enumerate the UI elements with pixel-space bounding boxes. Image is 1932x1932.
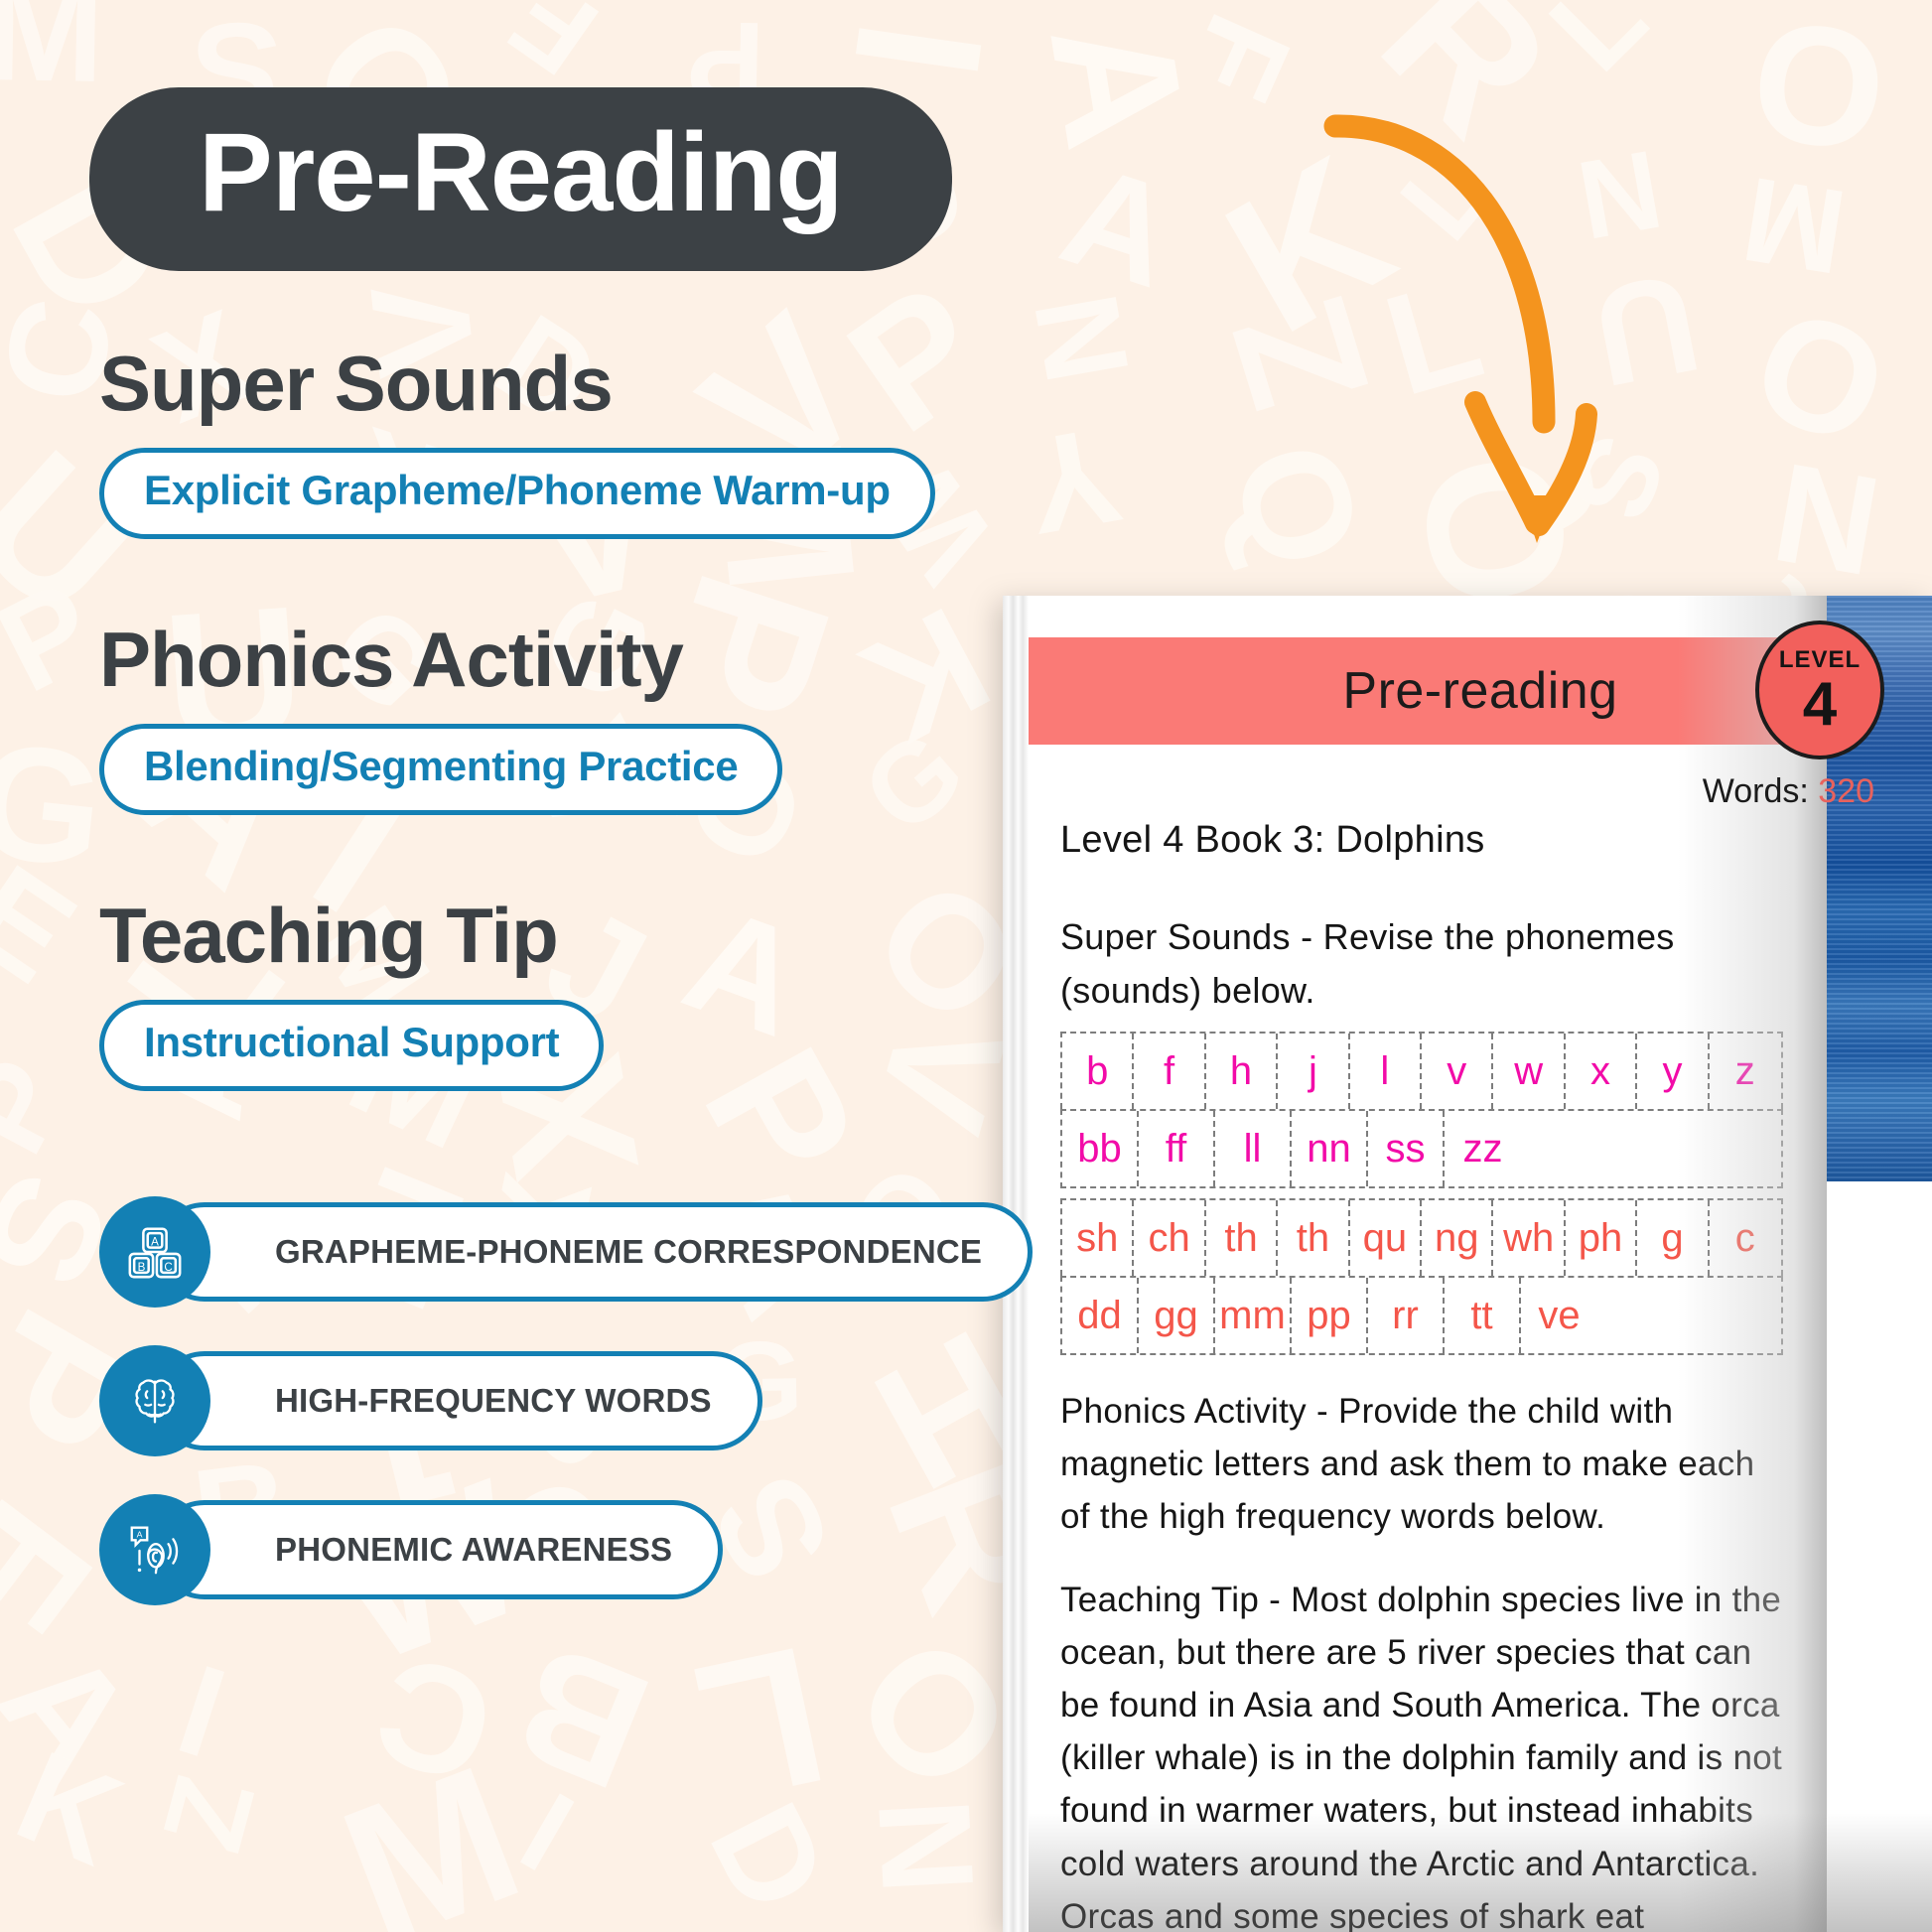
section-subtitle-pill: Explicit Grapheme/Phoneme Warm-up: [99, 448, 935, 539]
phoneme-cell: gg: [1139, 1278, 1215, 1353]
level-badge: LEVEL 4: [1755, 621, 1884, 759]
words-label: Words:: [1703, 772, 1809, 810]
phoneme-cell: h: [1206, 1034, 1278, 1109]
phoneme-cell: bb: [1062, 1111, 1139, 1186]
svg-text:C: C: [164, 1261, 172, 1274]
phoneme-cell: rr: [1368, 1278, 1445, 1353]
svg-text:A: A: [137, 1529, 143, 1539]
phoneme-cell: l: [1350, 1034, 1422, 1109]
feature-pill: HIGH-FREQUENCY WORDS: [155, 1351, 762, 1450]
page-title: Pre-Reading: [199, 109, 843, 237]
phoneme-cell: zz: [1445, 1111, 1521, 1186]
phoneme-cell: ss: [1368, 1111, 1445, 1186]
page-header-title: Pre-reading: [1342, 661, 1617, 721]
phoneme-cell: mm: [1215, 1278, 1292, 1353]
svg-text:B: B: [138, 1261, 146, 1274]
section-subtitle: Instructional Support: [144, 1019, 559, 1065]
phoneme-cell: sh: [1062, 1200, 1134, 1276]
phoneme-cell: tt: [1445, 1278, 1521, 1353]
feature-label: GRAPHEME-PHONEME CORRESPONDENCE: [275, 1233, 982, 1271]
phoneme-grid: bfhjlvwxyzbbffllnnsszzshchththqungwhphgc…: [1060, 1032, 1783, 1355]
section-teaching-tip: Teaching Tip Instructional Support: [99, 897, 1013, 1091]
phoneme-cell: f: [1134, 1034, 1205, 1109]
phoneme-grid-row: bfhjlvwxyz: [1060, 1032, 1783, 1109]
feature-pill: GRAPHEME-PHONEME CORRESPONDENCE: [155, 1202, 1033, 1302]
left-content-column: Pre-Reading Super Sounds Explicit Graphe…: [0, 0, 1013, 1932]
section-heading: Super Sounds: [99, 345, 1013, 422]
phoneme-cell: b: [1062, 1034, 1134, 1109]
ear-speech-icon: A: [99, 1494, 210, 1605]
phoneme-cell: g: [1637, 1200, 1709, 1276]
brain-icon: [99, 1345, 210, 1456]
phoneme-grid-row: ddggmmpprrttve: [1060, 1276, 1783, 1355]
level-number: 4: [1803, 676, 1837, 735]
phoneme-cell: ph: [1566, 1200, 1637, 1276]
book-preview: Pre-reading LEVEL 4 Words: 320 Level 4 B…: [1003, 596, 1932, 1932]
phoneme-cell: j: [1278, 1034, 1349, 1109]
phoneme-grid-row: shchththqungwhphgc: [1060, 1198, 1783, 1276]
phoneme-cell: dd: [1062, 1278, 1139, 1353]
feature-label: HIGH-FREQUENCY WORDS: [275, 1382, 712, 1420]
abc-blocks-icon: A B C: [99, 1196, 210, 1308]
phoneme-cell: y: [1637, 1034, 1709, 1109]
phoneme-cell: th: [1278, 1200, 1349, 1276]
feature-item-high-frequency-words: HIGH-FREQUENCY WORDS: [99, 1345, 1013, 1456]
super-sounds-prompt: Super Sounds - Revise the phonemes (soun…: [1060, 910, 1783, 1018]
phoneme-cell: z: [1710, 1034, 1781, 1109]
feature-list: GRAPHEME-PHONEME CORRESPONDENCE A B C H: [99, 1196, 1013, 1605]
phoneme-cell: ng: [1422, 1200, 1493, 1276]
phoneme-cell: th: [1206, 1200, 1278, 1276]
page-title-pill: Pre-Reading: [89, 87, 952, 271]
phoneme-cell: ll: [1215, 1111, 1292, 1186]
phoneme-cell: v: [1422, 1034, 1493, 1109]
phoneme-cell: nn: [1292, 1111, 1368, 1186]
feature-item-grapheme-phoneme: GRAPHEME-PHONEME CORRESPONDENCE A B C: [99, 1196, 1013, 1308]
words-count: 320: [1818, 772, 1874, 810]
section-subtitle: Explicit Grapheme/Phoneme Warm-up: [144, 467, 891, 513]
section-heading: Phonics Activity: [99, 621, 1013, 698]
feature-pill: PHONEMIC AWARENESS: [155, 1500, 723, 1599]
feature-label: PHONEMIC AWARENESS: [275, 1531, 672, 1569]
curved-down-arrow-icon: [1311, 94, 1618, 566]
section-subtitle: Blending/Segmenting Practice: [144, 743, 738, 789]
book-title: Level 4 Book 3: Dolphins: [1060, 812, 1783, 869]
phoneme-cell: pp: [1292, 1278, 1368, 1353]
phoneme-grid-group: bfhjlvwxyzbbffllnnsszz: [1060, 1032, 1783, 1188]
word-count: Words: 320: [1703, 772, 1874, 811]
section-subtitle-pill: Blending/Segmenting Practice: [99, 724, 782, 815]
section-super-sounds: Super Sounds Explicit Grapheme/Phoneme W…: [99, 345, 1013, 539]
phoneme-grid-row: bbffllnnsszz: [1060, 1109, 1783, 1188]
phoneme-cell: wh: [1493, 1200, 1565, 1276]
phoneme-cell: x: [1566, 1034, 1637, 1109]
phoneme-cell: w: [1493, 1034, 1565, 1109]
phoneme-cell: ve: [1521, 1278, 1597, 1353]
teaching-tip-text: Teaching Tip - Most dolphin species live…: [1060, 1574, 1783, 1932]
section-phonics-activity: Phonics Activity Blending/Segmenting Pra…: [99, 621, 1013, 815]
phoneme-cell: c: [1710, 1200, 1781, 1276]
phonics-activity-text: Phonics Activity - Provide the child wit…: [1060, 1385, 1783, 1544]
phoneme-cell: ch: [1134, 1200, 1205, 1276]
phoneme-cell: qu: [1350, 1200, 1422, 1276]
phoneme-cell: ff: [1139, 1111, 1215, 1186]
phoneme-grid-group: shchththqungwhphgcddggmmpprrttve: [1060, 1198, 1783, 1355]
section-subtitle-pill: Instructional Support: [99, 1000, 604, 1091]
section-heading: Teaching Tip: [99, 897, 1013, 974]
svg-text:A: A: [151, 1236, 159, 1249]
feature-item-phonemic-awareness: PHONEMIC AWARENESS A: [99, 1494, 1013, 1605]
